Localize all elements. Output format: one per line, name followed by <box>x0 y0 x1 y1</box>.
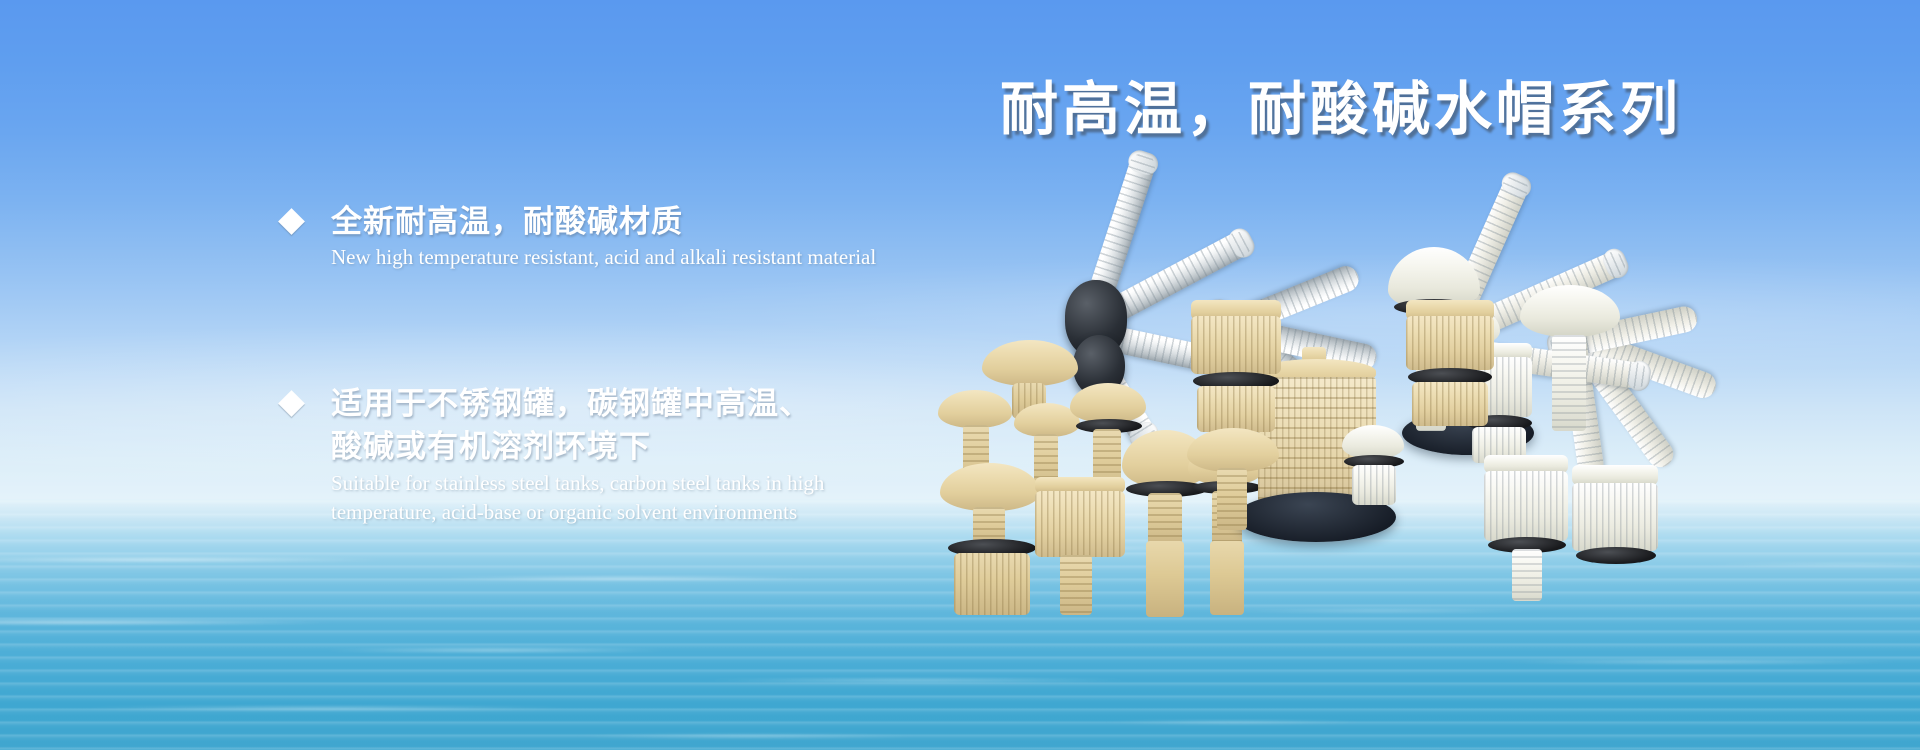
bullet-1-en-line-1: New high temperature resistant, acid and… <box>331 244 876 271</box>
page-title: 耐高温，耐酸碱水帽系列 <box>1000 62 1682 146</box>
bullet-2-cn-line-1: 适用于不锈钢罐，碳钢罐中高温、 <box>331 382 824 425</box>
bullet-2-en-line-2: temperature, acid-base or organic solven… <box>331 499 824 526</box>
feature-bullet-2: 适用于不锈钢罐，碳钢罐中高温、 酸碱或有机溶剂环境下 Suitable for … <box>282 382 824 526</box>
bullet-2-cn-line-2: 酸碱或有机溶剂环境下 <box>331 425 824 468</box>
diamond-bullet-icon <box>278 390 305 417</box>
promo-banner: 耐高温，耐酸碱水帽系列 全新耐高温，耐酸碱材质 New high tempera… <box>0 0 1920 750</box>
water-highlight-streaks <box>0 518 1920 750</box>
bullet-2-en-line-1: Suitable for stainless steel tanks, carb… <box>331 470 824 497</box>
diamond-bullet-icon <box>278 208 305 235</box>
bullet-1-cn-line-1: 全新耐高温，耐酸碱材质 <box>331 200 876 243</box>
feature-bullet-1: 全新耐高温，耐酸碱材质 New high temperature resista… <box>282 200 876 271</box>
